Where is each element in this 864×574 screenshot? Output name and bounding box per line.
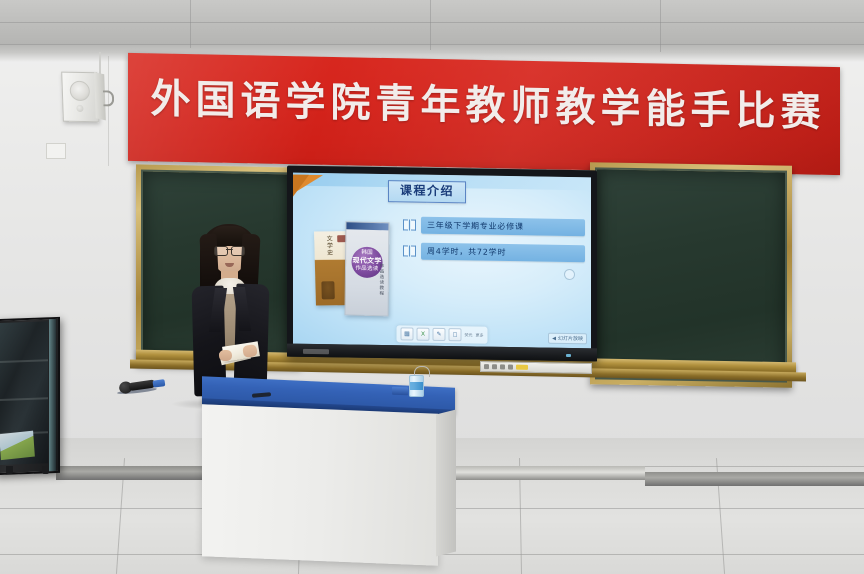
slide-corner-accent-dark-icon bbox=[293, 175, 309, 197]
slide-toolbar[interactable]: ▦ X ✎ ◻ 荧光 更多 bbox=[397, 325, 488, 343]
power-led-icon bbox=[566, 354, 571, 357]
control-key-icon[interactable] bbox=[500, 364, 505, 369]
slide-bullet-text: 周4学时，共72学时 bbox=[421, 243, 585, 263]
hand-left bbox=[219, 350, 232, 361]
interactive-smart-board[interactable]: 课程介绍 三年级下学期专业必修课 周4学时，共72学时 文学史 bbox=[287, 166, 597, 362]
book-b-title-small: 韩国 bbox=[361, 250, 373, 256]
speaker-cable bbox=[99, 52, 101, 74]
slide-bullet-item: 周4学时，共72学时 bbox=[403, 242, 585, 262]
slideshow-icon[interactable]: ▦ bbox=[401, 327, 414, 340]
baseboard-center bbox=[455, 466, 645, 480]
event-banner: 外国语学院青年教师教学能手比赛 bbox=[128, 53, 840, 175]
wall-speaker bbox=[61, 72, 107, 121]
slide-nav-control[interactable]: ◀ 幻灯片放映 bbox=[548, 333, 587, 345]
board-eraser[interactable] bbox=[392, 387, 408, 396]
cabinet-contents bbox=[0, 431, 35, 460]
presentation-slide[interactable]: 课程介绍 三年级下学期专业必修课 周4学时，共72学时 文学史 bbox=[293, 173, 591, 349]
control-key-icon[interactable] bbox=[492, 364, 497, 369]
open-book-icon bbox=[403, 219, 416, 230]
toolbar-label-more: 更多 bbox=[476, 332, 484, 338]
chevron-left-icon[interactable]: ◀ bbox=[552, 335, 556, 341]
event-banner-text: 外国语学院青年教师教学能手比赛 bbox=[146, 79, 830, 133]
smart-board-control-strip[interactable] bbox=[480, 361, 592, 374]
slide-watermark-dot-icon bbox=[564, 269, 575, 280]
open-book-icon bbox=[403, 245, 416, 256]
baseboard-right bbox=[645, 472, 864, 486]
control-key-icon[interactable] bbox=[508, 365, 513, 370]
slide-bullet-list: 三年级下学期专业必修课 周4学时，共72学时 bbox=[403, 216, 585, 271]
slide-bullet-text: 三年级下学期专业必修课 bbox=[421, 217, 585, 237]
pen-icon[interactable]: ✎ bbox=[433, 328, 446, 341]
baseboard-left bbox=[56, 466, 202, 480]
control-indicator-icon bbox=[516, 365, 528, 370]
chalkboard-right[interactable] bbox=[590, 162, 792, 388]
toolbar-label-highlighter: 荧光 bbox=[465, 332, 473, 338]
book-a-portrait-icon bbox=[321, 281, 334, 299]
excel-icon[interactable]: X bbox=[417, 328, 430, 341]
classroom-scene: 外国语学院青年教师教学能手比赛 课程介绍 三年级下学期专业必修课 bbox=[0, 0, 864, 574]
speaker-tweeter-icon bbox=[76, 105, 83, 112]
wall-outlet-plate bbox=[46, 143, 66, 159]
speaker-cone-icon bbox=[69, 81, 90, 101]
book-b-spine-text: 作品选读教程 bbox=[376, 263, 384, 297]
slide-nav-label: 幻灯片放映 bbox=[558, 335, 583, 342]
slide-title: 课程介绍 bbox=[388, 180, 466, 203]
eraser-icon[interactable]: ◻ bbox=[449, 328, 462, 341]
equipment-cabinet[interactable] bbox=[0, 317, 60, 475]
eyeglasses-icon bbox=[214, 246, 245, 254]
podium-side-panel bbox=[436, 410, 456, 557]
cabinet-legs bbox=[4, 466, 54, 474]
wall-seam bbox=[108, 56, 109, 166]
ceiling bbox=[0, 0, 864, 56]
podium-front-panel bbox=[202, 404, 438, 565]
book-cover-modern-literature: 韩国 现代文学 作品选读 作品选读教程 bbox=[345, 221, 390, 316]
book-a-title: 文学史 bbox=[319, 235, 332, 261]
smart-board-brand-plate bbox=[303, 349, 329, 354]
control-key-icon[interactable] bbox=[484, 364, 489, 369]
lecture-podium bbox=[202, 382, 455, 568]
water-bottle[interactable] bbox=[409, 375, 424, 397]
slide-bullet-item: 三年级下学期专业必修课 bbox=[403, 216, 585, 236]
